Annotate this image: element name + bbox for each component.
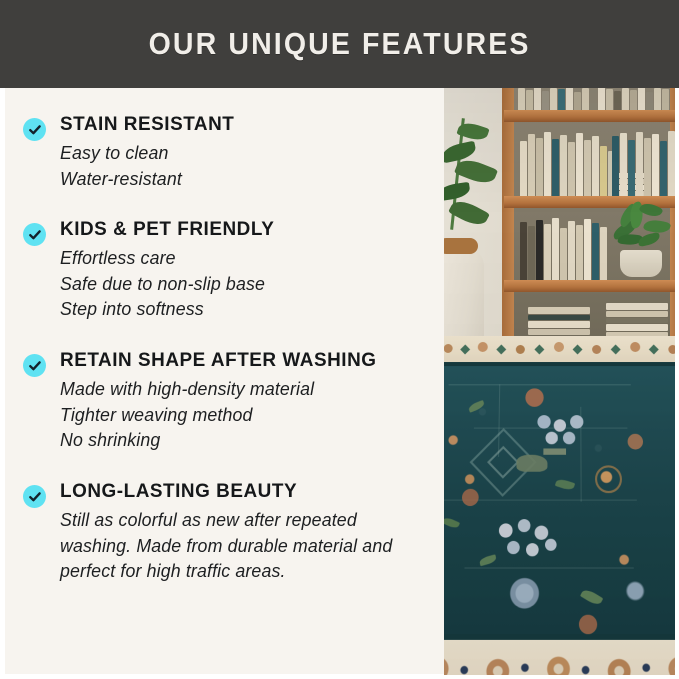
books-row-upper-right [612,128,679,196]
feature-title: STAIN RESISTANT [60,114,423,136]
feature-bullet: Easy to clean [60,140,419,166]
books-row-top [518,88,669,110]
feature-item: RETAIN SHAPE AFTER WASHING Made with hig… [23,350,434,453]
area-rug [444,336,679,679]
feature-bullet: Water-resistant [60,166,419,192]
feature-poster: OUR UNIQUE FEATURES STAIN RESISTANT Easy… [0,0,679,679]
rug-field [444,366,679,634]
check-circle-icon [23,485,47,509]
feature-item: KIDS & PET FRIENDLY Effortless care Safe… [23,219,434,322]
poster-body: STAIN RESISTANT Easy to clean Water-resi… [0,88,679,679]
room-scene-photo [444,88,679,679]
books-row-middle [520,216,607,280]
shelf-board [504,110,679,122]
plant-pot [620,250,662,277]
books-row-upper-left [520,128,615,196]
rug-border-bottom [444,640,679,679]
feature-title: RETAIN SHAPE AFTER WASHING [60,350,423,372]
feature-bullet: Effortless care [60,245,419,271]
feature-title: KIDS & PET FRIENDLY [60,219,423,241]
feature-bullet: No shrinking [60,427,419,453]
feature-bullet: Made with high-density material [60,376,419,402]
feature-item: LONG-LASTING BEAUTY Still as colorful as… [23,481,434,584]
check-circle-icon [23,354,47,378]
hanging-plant-icon [444,118,506,236]
shelf-board [504,280,679,292]
features-panel: STAIN RESISTANT Easy to clean Water-resi… [0,88,444,679]
feature-bullet: Safe due to non-slip base [60,271,419,297]
feature-bullet: Tighter weaving method [60,402,419,428]
check-circle-icon [23,118,47,142]
armchair-wood-arm [444,238,478,254]
feature-item: STAIN RESISTANT Easy to clean Water-resi… [23,114,434,191]
potted-plant-icon [610,202,672,254]
page-title: OUR UNIQUE FEATURES [149,26,531,62]
bookshelf [502,88,679,376]
feature-paragraph: Still as colorful as new after repeated … [60,507,419,584]
rug-border-top [444,336,679,362]
feature-title: LONG-LASTING BEAUTY [60,481,423,503]
check-circle-icon [23,223,47,247]
feature-bullet: Step into softness [60,296,419,322]
poster-header: OUR UNIQUE FEATURES [0,0,679,88]
